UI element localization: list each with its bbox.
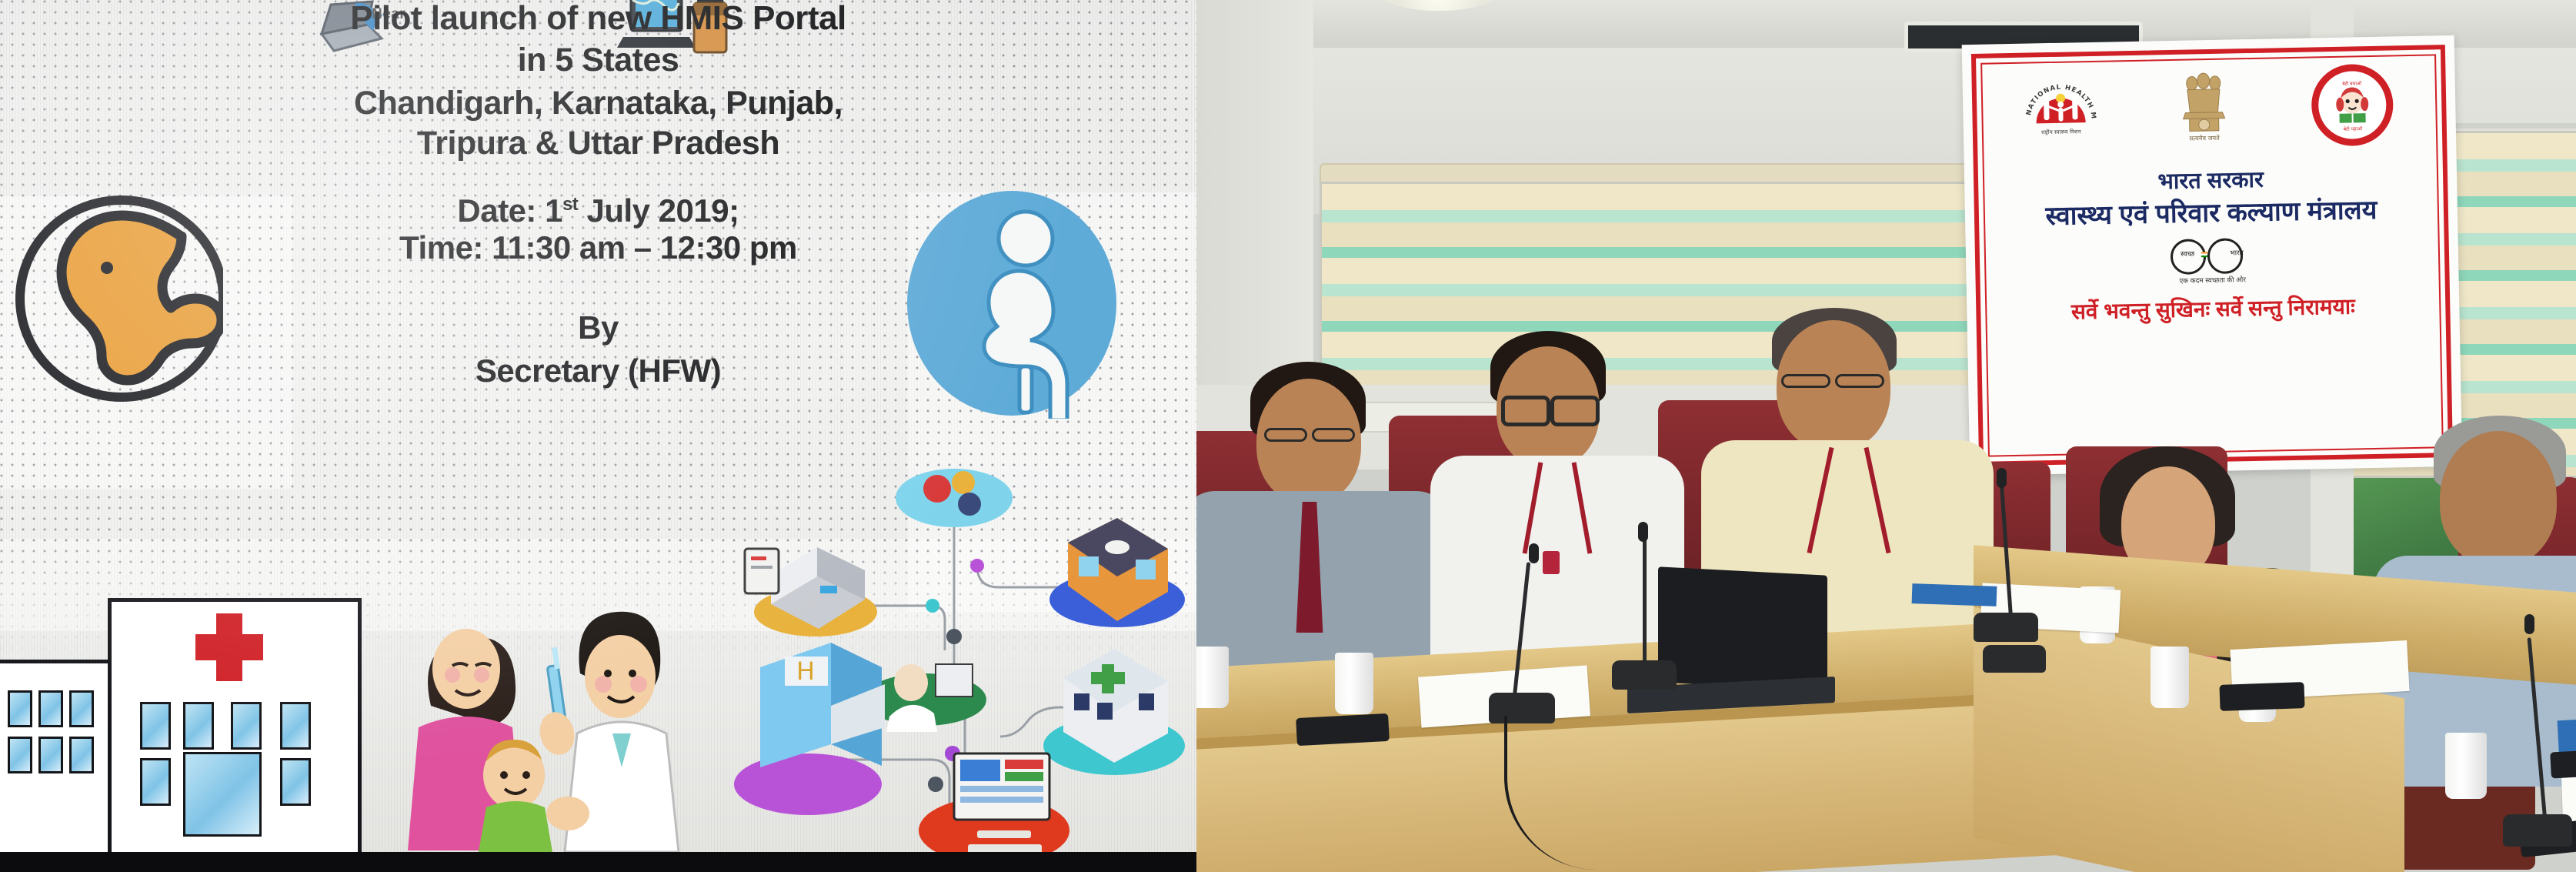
banner-logo-row: NATIONAL HEALTH MISSION राष्ट्रीय स्वास्…: [1985, 58, 2433, 155]
microphone-base: [1983, 645, 2046, 673]
microphone-head: [2524, 614, 2534, 634]
window-icon: [140, 702, 171, 750]
slide-states-line-1: Chandigarh, Karnataka, Punjab,: [0, 83, 1196, 123]
spectacles-icon: [1264, 428, 1307, 442]
window-icon: [8, 690, 32, 727]
ministry-banner: NATIONAL HEALTH MISSION राष्ट्रीय स्वास्…: [1962, 35, 2463, 476]
window-icon: [69, 737, 94, 773]
spectacles-icon: [1781, 374, 1830, 388]
window-icon: [38, 690, 63, 727]
window-icon: [38, 737, 63, 773]
window-icon: [69, 690, 94, 727]
beti-bachao-beti-padhao-logo: बेटी बचाओ बेटी पढ़ाओ: [2311, 63, 2394, 146]
state-emblem-of-india: सत्यमेव जयते: [2174, 67, 2233, 148]
slide-date-ordinal: st: [562, 194, 578, 215]
paper-cup: [1196, 646, 1229, 708]
slide-date: Date: 1st July 2019;: [0, 185, 1196, 231]
slide-by-label: By: [0, 308, 1196, 348]
microphone-base: [2503, 814, 2572, 847]
screen-bottom-edge: [0, 852, 1196, 872]
blue-folder: [1912, 583, 1997, 606]
microphone-head: [1638, 522, 1648, 542]
slide-title: Pilot launch of new HMIS Portal: [0, 0, 1196, 38]
microphone-head: [1997, 468, 2007, 488]
slide-illustration: H: [0, 560, 1196, 852]
svg-text:H: H: [796, 657, 815, 686]
hospital-door-icon: [183, 752, 262, 837]
slide-states-line-2: Tripura & Uttar Pradesh: [0, 123, 1196, 163]
pharmacy-icon: [1049, 518, 1185, 627]
swachh-bharat-logo: स्वच्छ भारत एक कदम स्वच्छता की ओर: [1966, 234, 2459, 289]
slide-time: Time: 11:30 am – 12:30 pm: [0, 228, 1196, 268]
desktop-dashboard-icon: [919, 753, 1069, 852]
paper-cup: [2445, 733, 2487, 799]
spectacles-icon: [1835, 374, 1884, 388]
window-icon: [231, 702, 262, 750]
window-icon: [280, 758, 311, 806]
window-icon: [280, 702, 311, 750]
clinic-icon: [745, 547, 877, 636]
spectacles-icon: [1550, 396, 1600, 426]
window-icon: [8, 737, 32, 773]
svg-text:सत्यमेव जयते: सत्यमेव जयते: [2189, 133, 2220, 142]
swachh-bharat-spectacles-icon: स्वच्छ भारत: [2163, 238, 2262, 270]
svg-text:बेटी पढ़ाओ: बेटी पढ़ाओ: [2343, 125, 2362, 132]
composite-image: Near Pilot launch of new HMIS Portal in …: [0, 0, 2576, 872]
conference-room-photo: NATIONAL HEALTH MISSION राष्ट्रीय स्वास्…: [1196, 0, 2576, 872]
red-cross-icon: [195, 634, 263, 660]
health-centre-icon: [1043, 649, 1185, 775]
swachh-label: स्वच्छ: [2181, 248, 2194, 258]
slide-byline: Secretary (HFW): [0, 351, 1196, 391]
microphone-stem: [1643, 539, 1647, 665]
laptop-screen: [1658, 566, 1827, 691]
participant-2: [1450, 331, 1681, 670]
projected-slide-panel: Near Pilot launch of new HMIS Portal in …: [0, 0, 1196, 872]
spectacles-icon: [1312, 428, 1355, 442]
slide-subtitle: in 5 States: [0, 40, 1196, 80]
bharat-label: भारत: [2230, 247, 2244, 257]
mobile-phone: [1296, 713, 1390, 746]
window-icon: [183, 702, 214, 750]
paper-cup: [1335, 653, 1373, 714]
paper-cup: [2151, 646, 2189, 708]
spectacles-icon: [1501, 396, 1550, 426]
mobile-phone: [2219, 682, 2304, 711]
participant-1: [1204, 362, 1435, 685]
id-badge: [1543, 551, 1560, 574]
slide-date-suffix: July 2019;: [578, 192, 739, 229]
window-icon: [140, 758, 171, 806]
svg-text:बेटी बचाओ: बेटी बचाओ: [2342, 80, 2362, 86]
microphone-head: [1529, 543, 1539, 563]
doctor-vaccination-illustration: [385, 583, 708, 852]
national-health-mission-logo: NATIONAL HEALTH MISSION राष्ट्रीय स्वास्…: [2025, 74, 2097, 146]
svg-text:राष्ट्रीय स्वास्थ्य मिशन: राष्ट्रीय स्वास्थ्य मिशन: [2041, 128, 2081, 135]
slide-date-prefix: Date: 1: [457, 192, 562, 229]
hospital-tower-icon: H: [734, 643, 885, 815]
microphone-base: [1974, 613, 2038, 642]
cloud-icon: [896, 469, 1013, 527]
head: [2440, 431, 2557, 566]
health-network-diagram: H: [723, 406, 1196, 852]
